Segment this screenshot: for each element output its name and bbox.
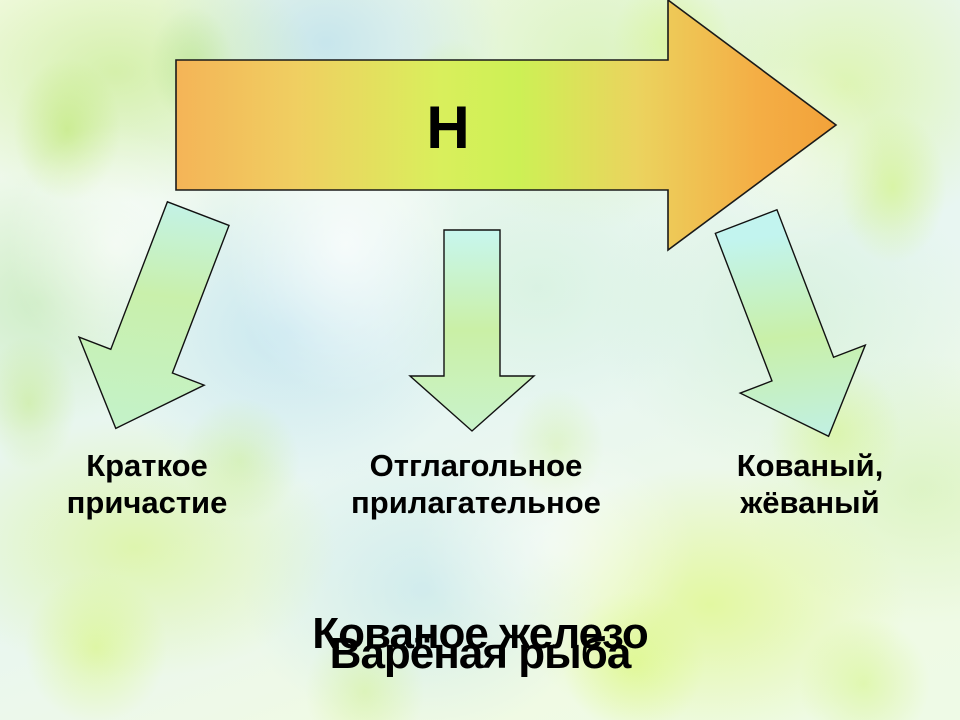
main-arrow-label: Н [168, 98, 728, 158]
example-phrases-group: Кованое железо Варёная рыба [0, 604, 960, 714]
slide-canvas: Н [0, 0, 960, 720]
arrow-to-verbal-adjective-icon [404, 228, 540, 434]
example-phrase-secondary: Варёная рыба [0, 632, 960, 676]
category-label-exceptions: Кованый, жёваный [670, 448, 950, 521]
arrow-to-exceptions-icon [692, 208, 882, 448]
category-label-verbal-adjective: Отглагольное прилагательное [301, 448, 651, 521]
arrow-to-short-participle-icon [62, 196, 252, 446]
category-labels-row: Краткое причастие Отглагольное прилагате… [0, 448, 960, 521]
category-label-short-participle: Краткое причастие [12, 448, 282, 521]
